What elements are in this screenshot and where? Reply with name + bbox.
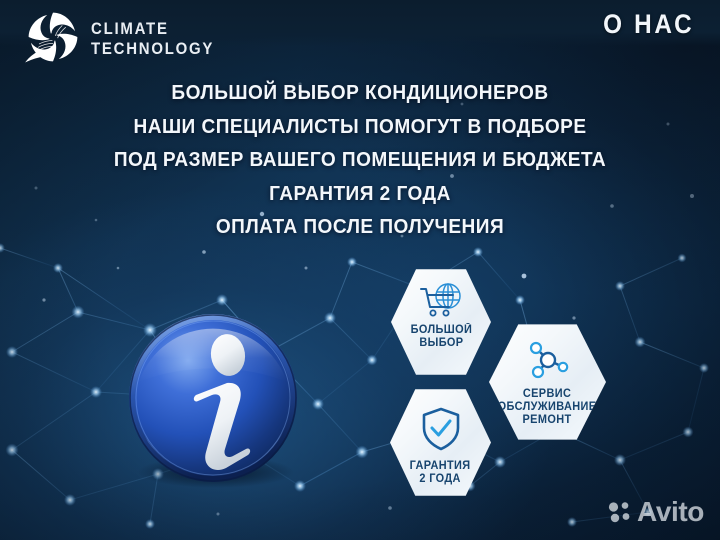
feature-label-choice-line1: БОЛЬШОЙ [410, 324, 472, 337]
feature-label-warranty-line1: ГАРАНТИЯ [410, 460, 471, 473]
avito-wordmark: Avito [637, 496, 704, 528]
avito-dots-icon [607, 501, 633, 523]
headline-line-2: НАШИ СПЕЦИАЛИСТЫ ПОМОГУТ В ПОДБОРЕ [25, 117, 695, 138]
feature-label-service-line2: ОБСЛУЖИВАНИЕ [498, 401, 597, 414]
headline-line-3: ПОД РАЗМЕР ВАШЕГО ПОМЕЩЕНИЯ И БЮДЖЕТА [25, 150, 695, 171]
feature-label-choice-line2: ВЫБОР [410, 337, 472, 350]
brand-name-line2: TECHNOLOGY [91, 40, 214, 57]
feature-label-service: СЕРВИС ОБСЛУЖИВАНИЕ РЕМОНТ [498, 388, 597, 427]
headline-line-1: БОЛЬШОЙ ВЫБОР КОНДИЦИОНЕРОВ [25, 83, 695, 104]
headline-line-4: ГАРАНТИЯ 2 ГОДА [25, 184, 695, 205]
info-sphere-icon [124, 312, 302, 490]
feature-label-choice: БОЛЬШОЙ ВЫБОР [410, 324, 472, 350]
shield-check-icon [421, 407, 461, 451]
headline-line-5: ОПЛАТА ПОСЛЕ ПОЛУЧЕНИЯ [25, 217, 695, 238]
feature-label-service-line3: РЕМОНТ [498, 414, 597, 427]
feature-label-warranty-line2: 2 ГОДА [410, 473, 471, 486]
shopping-cart-globe-icon [419, 283, 463, 317]
promo-poster: CLIMATE TECHNOLOGY О НАС БОЛЬШОЙ ВЫБОР К… [0, 0, 720, 540]
avito-watermark: Avito [607, 496, 704, 528]
molecule-network-icon [525, 340, 571, 380]
headline-block: БОЛЬШОЙ ВЫБОР КОНДИЦИОНЕРОВ НАШИ СПЕЦИАЛ… [0, 83, 720, 251]
brand-logo: CLIMATE TECHNOLOGY [24, 8, 231, 66]
page-title: О НАС [603, 9, 694, 40]
climate-swirl-fan-icon [24, 8, 82, 66]
brand-name-line1: CLIMATE [91, 20, 214, 37]
brand-wordmark: CLIMATE TECHNOLOGY [91, 18, 231, 57]
info-badge [124, 312, 302, 490]
feature-label-service-line1: СЕРВИС [498, 388, 597, 401]
feature-label-warranty: ГАРАНТИЯ 2 ГОДА [410, 460, 471, 486]
